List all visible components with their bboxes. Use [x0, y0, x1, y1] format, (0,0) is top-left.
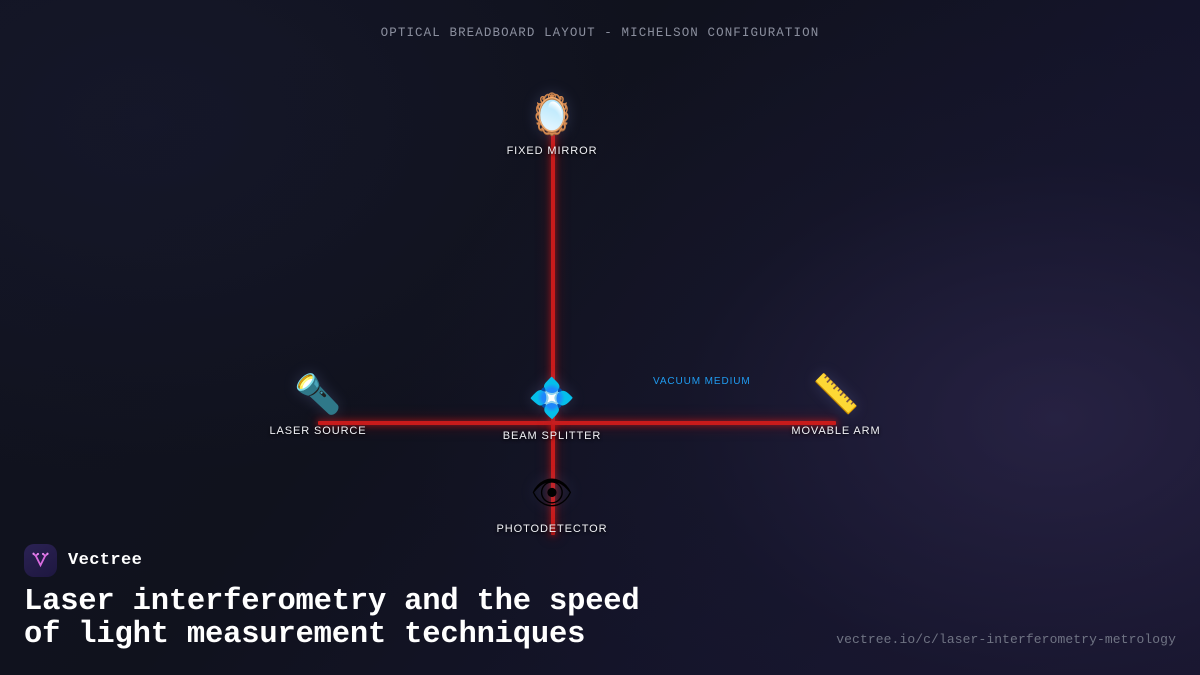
component-photodetector[interactable]: 👁 PHOTODETECTOR	[467, 470, 637, 535]
headline: Laser interferometry and the speed of li…	[24, 586, 824, 651]
component-beam-splitter[interactable]: 💠 BEAM SPLITTER	[467, 376, 637, 442]
component-fixed-mirror[interactable]: 🪞 FIXED MIRROR	[467, 92, 637, 157]
mirror-icon: 🪞	[527, 92, 577, 138]
brand-row[interactable]: Vectree	[24, 544, 142, 577]
component-laser-source[interactable]: 🔦 LASER SOURCE	[233, 372, 403, 437]
component-movable-arm[interactable]: 📏 MOVABLE ARM	[751, 372, 921, 437]
vectree-branching-v-logo-icon	[24, 544, 57, 577]
component-label-movable-arm: MOVABLE ARM	[791, 425, 880, 437]
footer-url: vectree.io/c/laser-interferometry-metrol…	[836, 632, 1176, 647]
eye-icon: 👁	[530, 470, 573, 516]
diamond-with-a-dot-icon: 💠	[528, 376, 575, 422]
diagram-title: OPTICAL BREADBOARD LAYOUT - MICHELSON CO…	[0, 26, 1200, 40]
component-label-fixed-mirror: FIXED MIRROR	[507, 145, 598, 157]
annotation-vacuum-medium: VACUUM MEDIUM	[653, 376, 751, 387]
flashlight-icon: 🔦	[294, 372, 341, 418]
component-label-beam-splitter: BEAM SPLITTER	[503, 430, 602, 442]
footer-band: Vectree Laser interferometry and the spe…	[0, 530, 1200, 675]
slide-canvas: OPTICAL BREADBOARD LAYOUT - MICHELSON CO…	[0, 0, 1200, 675]
component-label-laser-source: LASER SOURCE	[270, 425, 367, 437]
straight-ruler-icon: 📏	[812, 372, 859, 418]
brand-name: Vectree	[68, 551, 142, 570]
